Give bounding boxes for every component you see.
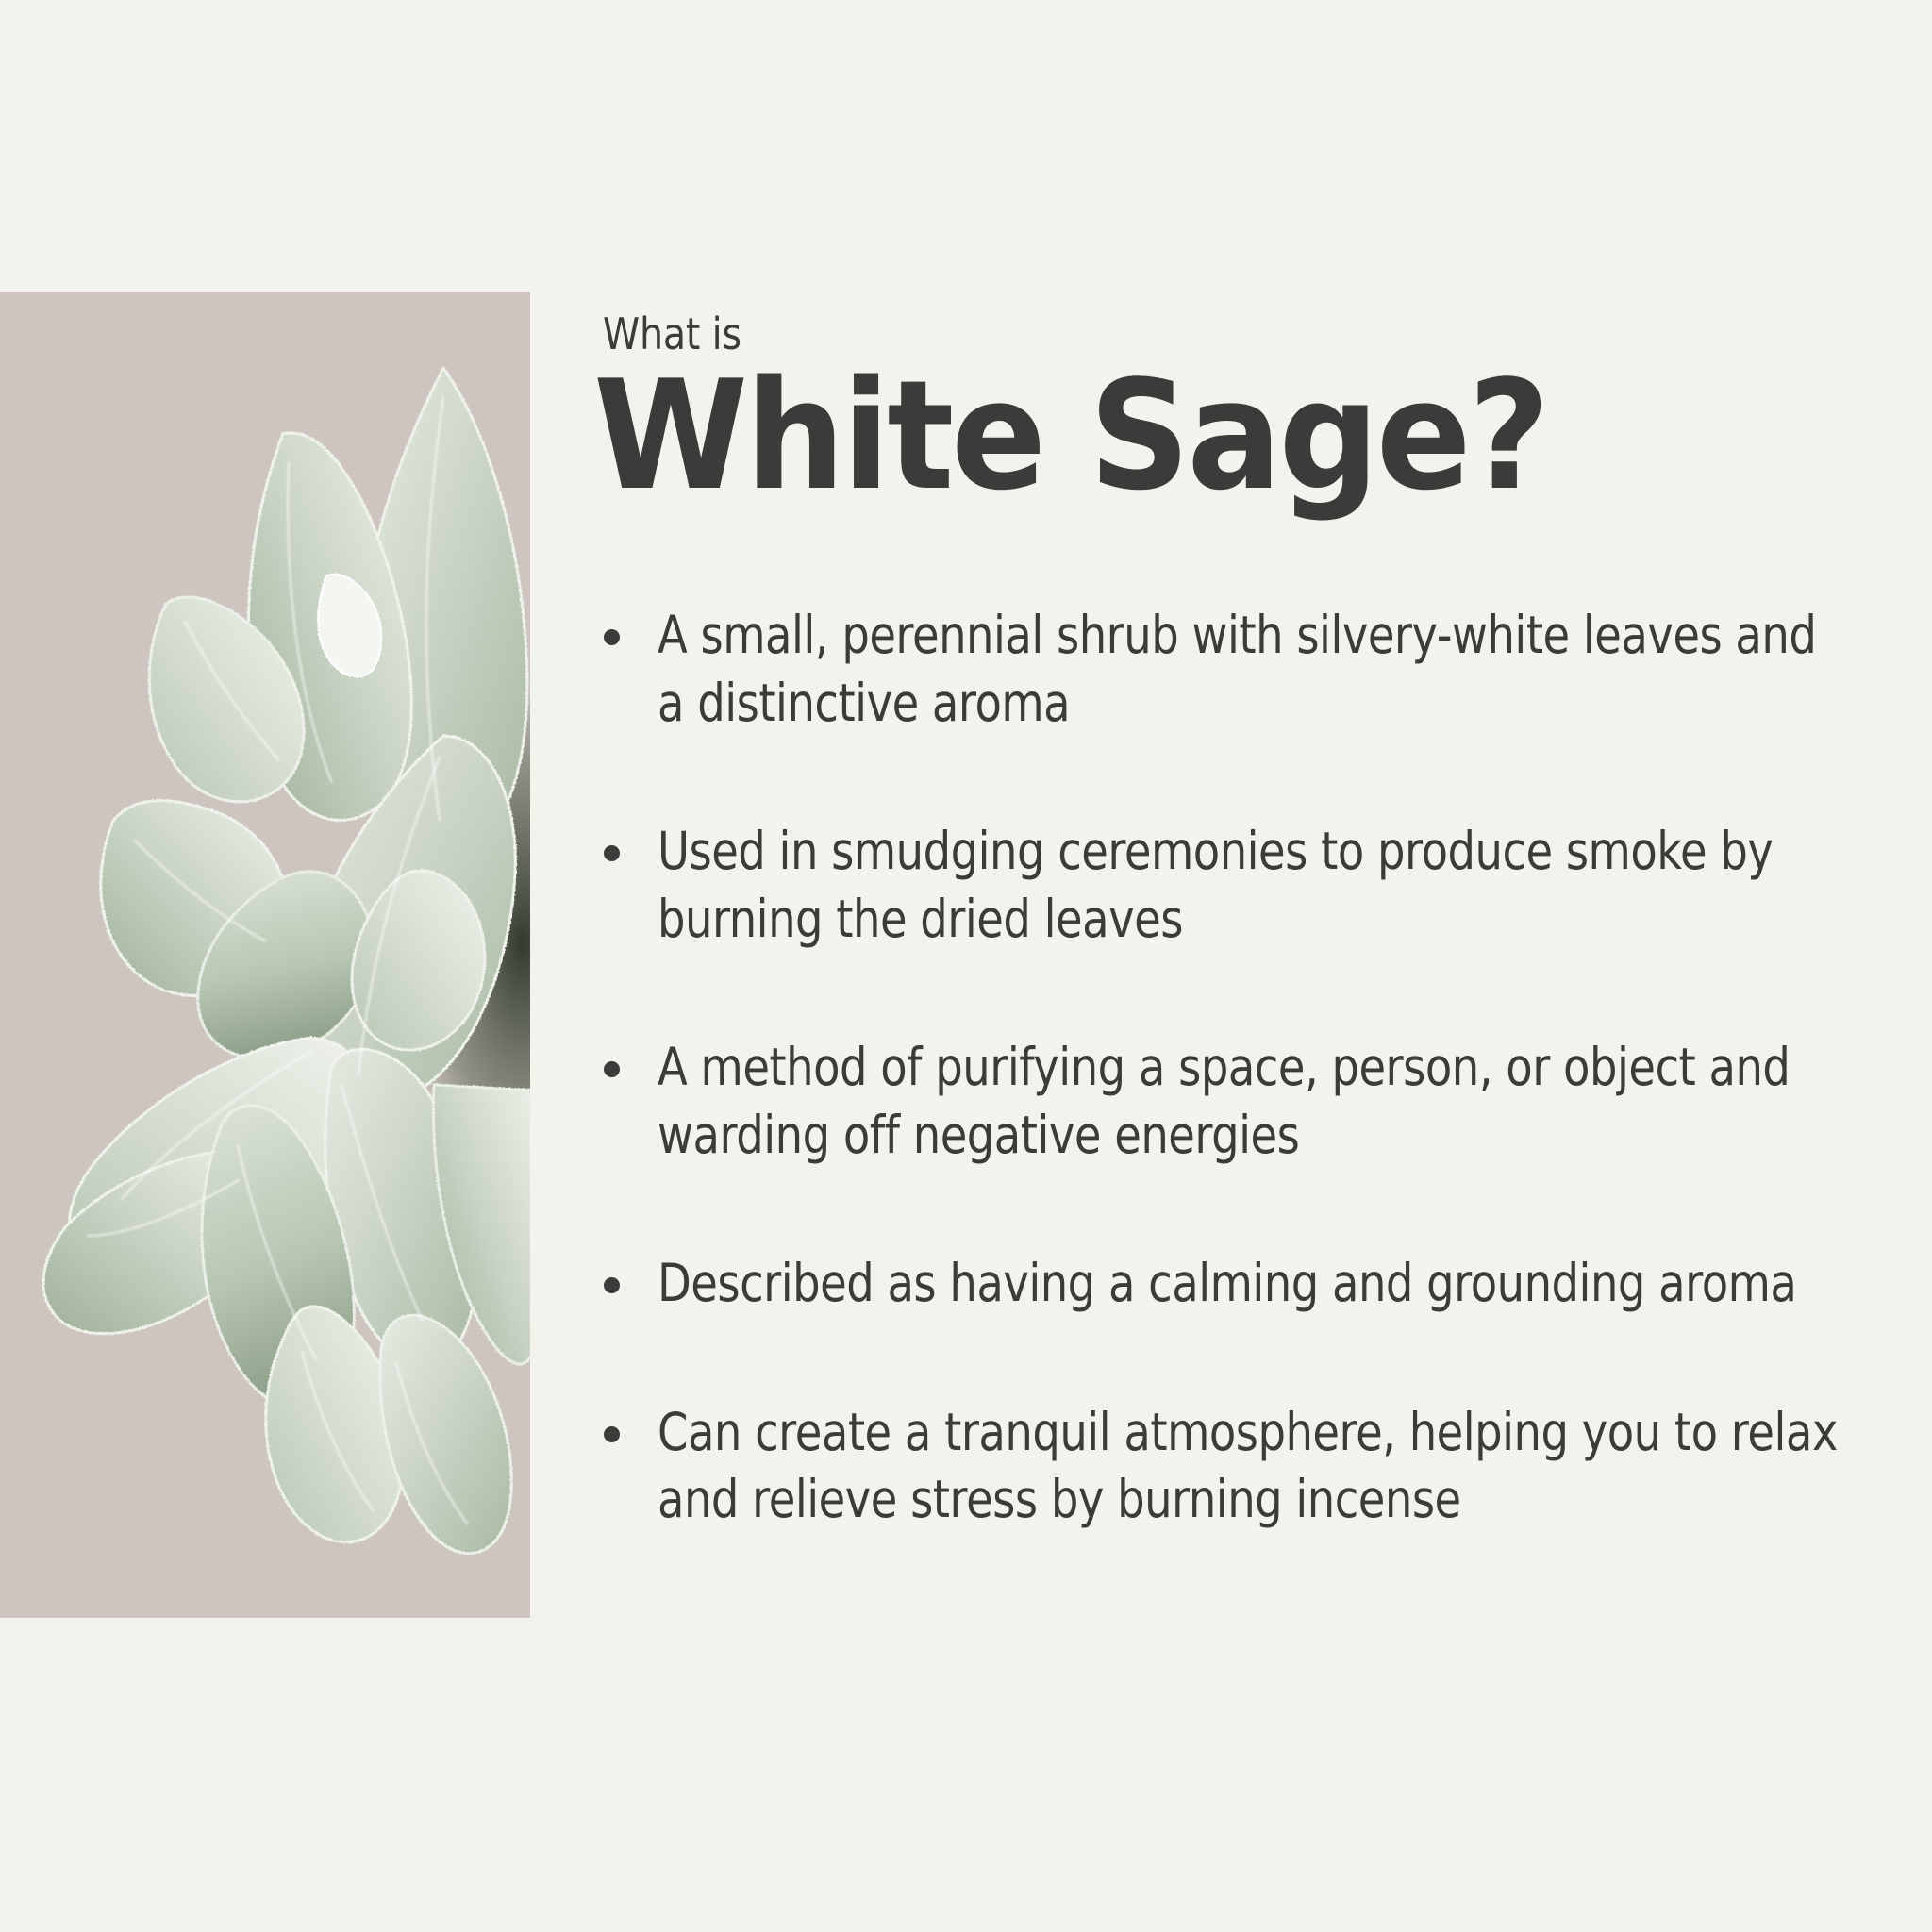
feature-bullet-list: A small, perennial shrub with silvery-wh… [599, 602, 1854, 1534]
list-item-text: Can create a tranquil atmosphere, helpin… [658, 1399, 1850, 1534]
bullet-dot-icon [604, 1061, 620, 1077]
bullet-dot-icon [604, 1426, 620, 1442]
list-item: A method of purifying a space, person, o… [599, 1034, 1854, 1169]
bullet-dot-icon [604, 629, 620, 645]
list-item-text: Described as having a calming and ground… [658, 1250, 1850, 1318]
white-sage-plant-photo [0, 292, 530, 1618]
poster-canvas: What is White Sage? A small, perennial s… [0, 0, 1932, 1932]
list-item-text: A small, perennial shrub with silvery-wh… [658, 602, 1850, 737]
list-item: Used in smudging ceremonies to produce s… [599, 818, 1854, 953]
bullet-dot-icon [604, 1277, 620, 1293]
list-item: Described as having a calming and ground… [599, 1250, 1854, 1318]
list-item-text: Used in smudging ceremonies to produce s… [658, 818, 1850, 953]
content-column: What is White Sage? A small, perennial s… [599, 311, 1854, 1534]
list-item: A small, perennial shrub with silvery-wh… [599, 602, 1854, 737]
bullet-dot-icon [604, 845, 620, 861]
image-panel [0, 292, 530, 1618]
list-item: Can create a tranquil atmosphere, helpin… [599, 1399, 1854, 1534]
list-item-text: A method of purifying a space, person, o… [658, 1034, 1850, 1169]
page-title: White Sage? [593, 360, 1765, 511]
